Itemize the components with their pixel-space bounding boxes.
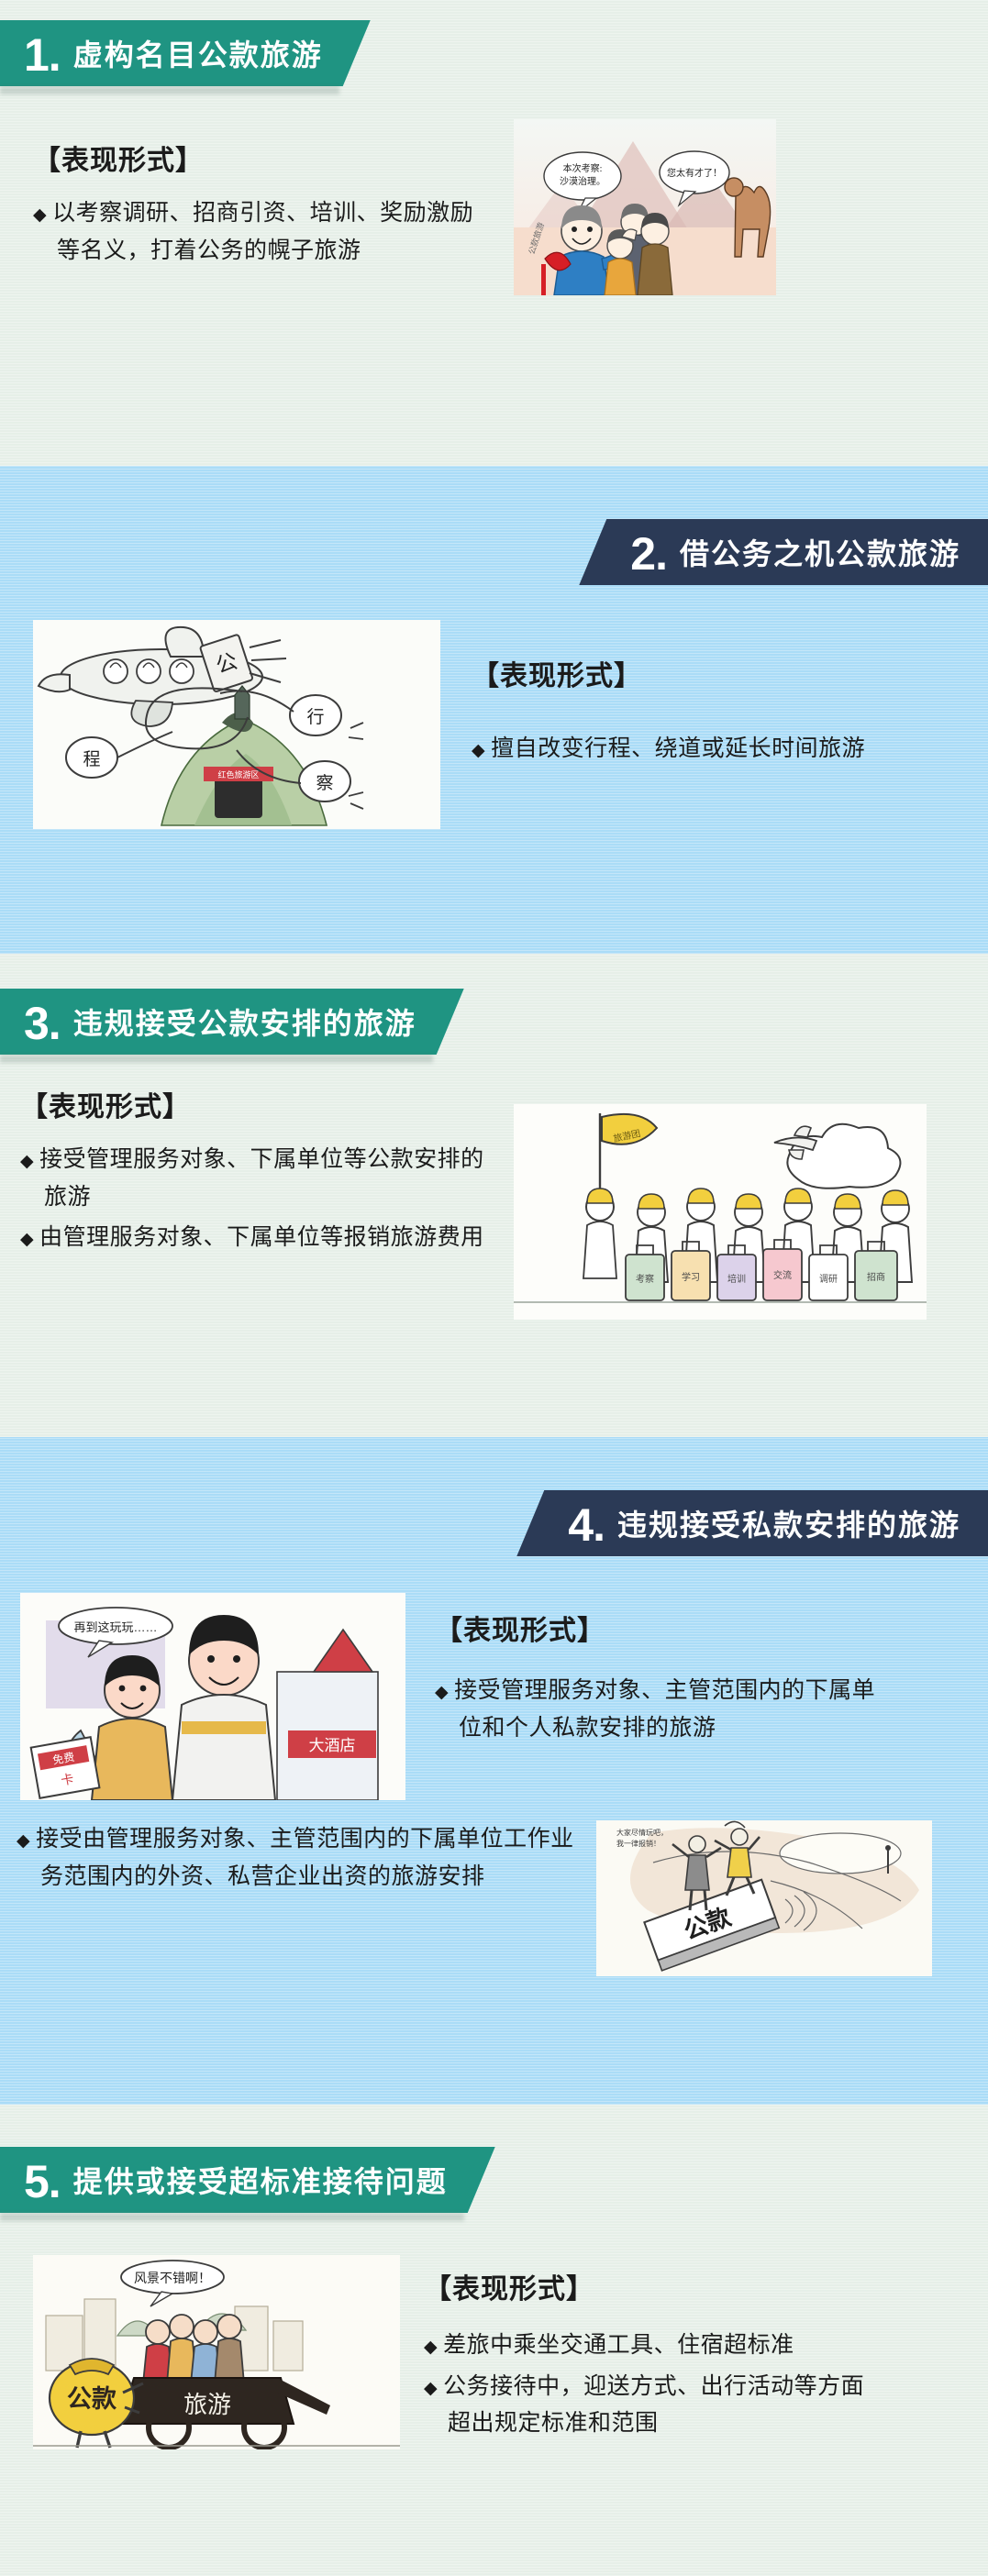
section-4-bottom: ◆接受由管理服务对象、主管范围内的下属单位工作业务范围内的外资、私营企业出资的旅…	[0, 1800, 988, 1976]
banner-dark: 2. 借公务之机公款旅游	[579, 519, 988, 585]
hotel-sign-label: 大酒店	[309, 1737, 356, 1754]
speech-bubble-1-line1: 本次考察:	[563, 162, 603, 174]
section-4-text-2: ◆接受由管理服务对象、主管范围内的下属单位工作业务范围内的外资、私营企业出资的旅…	[0, 1820, 587, 1898]
section-1-banner: 1. 虚构名目公款旅游	[0, 20, 371, 86]
section-4-banner: 4. 违规接受私款安排的旅游	[0, 1437, 988, 1556]
bullet-text: 接受管理服务对象、下属单位等公款安排的旅游	[39, 1146, 484, 1210]
suitcase-label-6: 招商	[867, 1271, 885, 1283]
section-title: 违规接受私款安排的旅游	[617, 1502, 960, 1544]
bullet-text: 由管理服务对象、下属单位等报销旅游费用	[39, 1224, 484, 1250]
suitcase-label-1: 考察	[636, 1273, 654, 1285]
section-5-text: 【表现形式】 ◆差旅中乘坐交通工具、住宿超标准 ◆公务接待中，迎送方式、出行活动…	[400, 2244, 895, 2449]
section-title: 借公务之机公款旅游	[680, 531, 960, 573]
subhead-label: 【表现形式】	[435, 1608, 879, 1648]
bullet-text: 公务接待中，迎送方式、出行活动等方面超出规定标准和范围	[443, 2373, 864, 2437]
speech-bubble-hotel: 再到这玩玩……	[73, 1620, 157, 1634]
section-3-body: 【表现形式】 ◆接受管理服务对象、下属单位等公款安排的旅游 ◆由管理服务对象、下…	[0, 1055, 988, 1320]
section-4-top: 再到这玩玩…… 大酒店	[0, 1556, 988, 1800]
suitcase-label-3: 培训	[727, 1273, 746, 1285]
section-3-illustration: 旅游团	[514, 1084, 927, 1320]
bullet-diamond-icon: ◆	[33, 205, 52, 225]
section-2: 2. 借公务之机公款旅游	[0, 466, 988, 954]
bullet-text: 擅自改变行程、绕道或延长时间旅游	[491, 735, 865, 761]
section-number: 1.	[24, 32, 61, 78]
suitcase-label-5: 调研	[819, 1274, 838, 1285]
bullet-item: ◆公务接待中，迎送方式、出行活动等方面超出规定标准和范围	[424, 2368, 873, 2442]
subhead-label: 【表现形式】	[33, 138, 486, 178]
section-5-illustration: 风景不错啊！	[0, 2244, 400, 2449]
section-5-banner: 5. 提供或接受超标准接待问题	[0, 2147, 495, 2213]
bullet-item: ◆由管理服务对象、下属单位等报销旅游费用	[20, 1219, 492, 1256]
banner-green: 1. 虚构名目公款旅游	[0, 20, 371, 86]
section-2-text: 【表现形式】 ◆擅自改变行程、绕道或延长时间旅游	[440, 616, 917, 829]
section-title: 违规接受公款安排的旅游	[73, 1001, 416, 1043]
public-funds-diving-board-cartoon: 大家尽情玩吧， 我一律报销！ 公款	[596, 1820, 932, 1976]
hotel-guests-illustration-svg: 再到这玩玩…… 大酒店	[20, 1593, 405, 1800]
bullet-text: 差旅中乘坐交通工具、住宿超标准	[443, 2332, 794, 2358]
suitcase-label-4: 交流	[773, 1269, 792, 1281]
bullet-item: ◆差旅中乘坐交通工具、住宿超标准	[424, 2327, 873, 2364]
section-2-body: 公 红色旅游区 行	[0, 585, 988, 829]
diving-board-illustration-svg: 大家尽情玩吧， 我一律报销！ 公款	[596, 1820, 932, 1976]
pyramid-desert-illustration-svg: 本次考察: 沙漠治理。 您太有才了！	[514, 119, 776, 295]
bullet-list: ◆擅自改变行程、绕道或延长时间旅游	[472, 730, 890, 768]
section-4-illustration-1: 再到这玩玩…… 大酒店	[0, 1584, 405, 1800]
section-4: 4. 违规接受私款安排的旅游 再到这玩玩……	[0, 1437, 988, 2105]
section-3-banner: 3. 违规接受公款安排的旅游	[0, 989, 464, 1055]
banner-green: 5. 提供或接受超标准接待问题	[0, 2147, 495, 2213]
bullet-diamond-icon: ◆	[424, 2379, 443, 2398]
infographic-page: 1. 虚构名目公款旅游 【表现形式】 ◆以考察调研、招商引资、培训、奖励激励等名…	[0, 0, 988, 2576]
section-4-illustration-2: 大家尽情玩吧， 我一律报销！ 公款	[587, 1820, 932, 1976]
subhead-label: 【表现形式】	[472, 653, 890, 693]
section-2-banner: 2. 借公务之机公款旅游	[0, 466, 988, 585]
bullet-list: ◆以考察调研、招商引资、培训、奖励激励等名义，打着公务的幌子旅游	[33, 194, 486, 269]
bubble-label-cheng: 程	[83, 749, 100, 769]
section-title: 虚构名目公款旅游	[73, 32, 323, 74]
bag-label-gongkuan: 公款	[67, 2385, 117, 2413]
bullet-diamond-icon: ◆	[20, 1230, 39, 1249]
bullet-item: ◆接受管理服务对象、主管范围内的下属单位和个人私款安排的旅游	[435, 1672, 879, 1746]
bubble-label-cha: 察	[316, 773, 333, 793]
section-number: 2.	[630, 531, 667, 577]
sign-label-redtour: 红色旅游区	[217, 769, 259, 779]
section-number: 5.	[24, 2159, 61, 2205]
bubble-label-xing: 行	[306, 707, 324, 727]
speech-line-2: 我一律报销！	[616, 1839, 661, 1848]
speech-bubble-1-line2: 沙漠治理。	[560, 175, 605, 187]
suitcase-label-2: 学习	[682, 1271, 700, 1283]
subhead-label: 【表现形式】	[424, 2266, 873, 2306]
cart-label-tourism: 旅游	[183, 2391, 231, 2418]
bullet-list: ◆接受管理服务对象、下属单位等公款安排的旅游 ◆由管理服务对象、下属单位等报销旅…	[20, 1141, 492, 1256]
section-1-body: 【表现形式】 ◆以考察调研、招商引资、培训、奖励激励等名义，打着公务的幌子旅游	[0, 86, 988, 295]
speech-line-1: 大家尽情玩吧，	[616, 1828, 668, 1837]
section-5-body: 风景不错啊！	[0, 2213, 988, 2449]
section-number: 3.	[24, 1001, 61, 1046]
bullet-text: 以考察调研、招商引资、培训、奖励激励等名义，打着公务的幌子旅游	[52, 200, 473, 263]
hotel-guests-cartoon: 再到这玩玩…… 大酒店	[20, 1593, 405, 1800]
bullet-diamond-icon: ◆	[20, 1152, 39, 1171]
airplane-mountain-illustration-svg: 公 红色旅游区 行	[33, 620, 440, 829]
bullet-diamond-icon: ◆	[472, 741, 491, 760]
airplane-detour-mountain-cartoon: 公 红色旅游区 行	[33, 620, 440, 829]
speech-bubble-scenery: 风景不错啊！	[134, 2271, 211, 2285]
bullet-item: ◆以考察调研、招商引资、培训、奖励激励等名义，打着公务的幌子旅游	[33, 194, 486, 269]
section-1: 1. 虚构名目公款旅游 【表现形式】 ◆以考察调研、招商引资、培训、奖励激励等名…	[0, 0, 988, 466]
pyramid-desert-inspection-cartoon: 本次考察: 沙漠治理。 您太有才了！	[514, 119, 776, 295]
banner-green: 3. 违规接受公款安排的旅游	[0, 989, 464, 1055]
bullet-list: ◆差旅中乘坐交通工具、住宿超标准 ◆公务接待中，迎送方式、出行活动等方面超出规定…	[424, 2327, 873, 2442]
section-2-illustration: 公 红色旅游区 行	[0, 616, 440, 829]
bullet-item: ◆接受管理服务对象、下属单位等公款安排的旅游	[20, 1141, 492, 1215]
bullet-diamond-icon: ◆	[435, 1683, 454, 1702]
banner-dark: 4. 违规接受私款安排的旅游	[516, 1490, 988, 1556]
section-title: 提供或接受超标准接待问题	[73, 2159, 448, 2201]
tour-group-illustration-svg: 旅游团	[514, 1104, 927, 1320]
section-3: 3. 违规接受公款安排的旅游 【表现形式】 ◆接受管理服务对象、下属单位等公款安…	[0, 954, 988, 1437]
section-1-illustration: 本次考察: 沙漠治理。 您太有才了！	[514, 114, 776, 295]
bullet-diamond-icon: ◆	[17, 1831, 36, 1851]
bullet-list: ◆接受管理服务对象、主管范围内的下属单位和个人私款安排的旅游	[435, 1672, 879, 1746]
section-1-text: 【表现形式】 ◆以考察调研、招商引资、培训、奖励激励等名义，打着公务的幌子旅游	[0, 114, 514, 295]
bullet-diamond-icon: ◆	[424, 2338, 443, 2357]
section-3-text: 【表现形式】 ◆接受管理服务对象、下属单位等公款安排的旅游 ◆由管理服务对象、下…	[0, 1084, 514, 1320]
bullet-item: ◆擅自改变行程、绕道或延长时间旅游	[472, 730, 890, 768]
section-5: 5. 提供或接受超标准接待问题 风景不错啊！	[0, 2105, 988, 2576]
bullet-item: ◆接受由管理服务对象、主管范围内的下属单位工作业务范围内的外资、私营企业出资的旅…	[17, 1820, 587, 1895]
subhead-label: 【表现形式】	[20, 1084, 492, 1124]
bullet-text: 接受由管理服务对象、主管范围内的下属单位工作业务范围内的外资、私营企业出资的旅游…	[36, 1826, 574, 1889]
rickshaw-illustration-svg: 风景不错啊！	[33, 2255, 400, 2449]
bullet-text: 接受管理服务对象、主管范围内的下属单位和个人私款安排的旅游	[454, 1677, 875, 1741]
rickshaw-public-funds-tourism-cartoon: 风景不错啊！	[33, 2255, 400, 2449]
card-label-ka: 卡	[60, 1771, 75, 1787]
tour-group-flag-luggage-cartoon: 旅游团	[514, 1104, 927, 1320]
section-number: 4.	[568, 1502, 605, 1548]
speech-bubble-2: 您太有才了！	[667, 167, 722, 179]
section-4-text: 【表现形式】 ◆接受管理服务对象、主管范围内的下属单位和个人私款安排的旅游	[405, 1584, 901, 1800]
